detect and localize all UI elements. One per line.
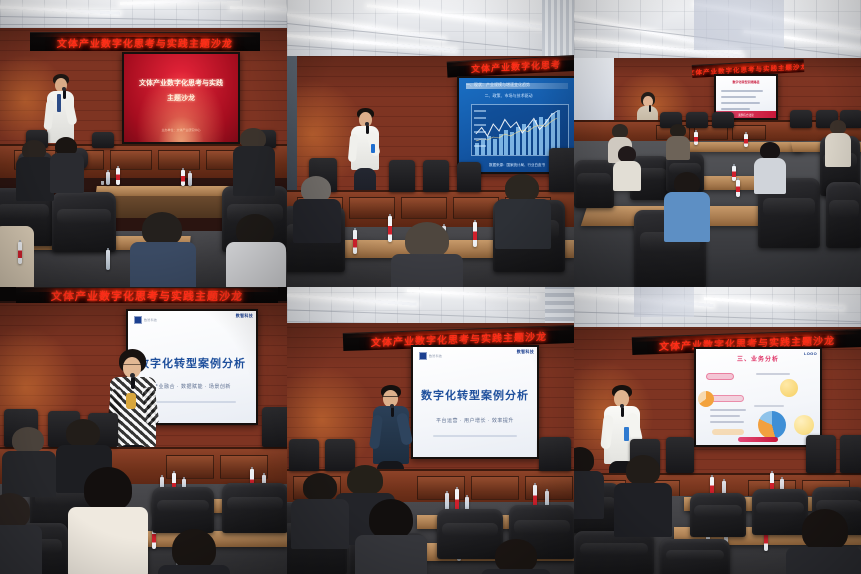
brand-mark-icon <box>419 352 427 360</box>
diagram-label <box>706 373 734 380</box>
ceiling <box>574 0 861 66</box>
led-banner-1: 文体产业数字化思考与实践主题沙龙 <box>30 32 260 51</box>
presentation-screen-5: 数智科技 数智科技 数字化转型案例分析 平台运营 · 用户增长 · 效率提升 <box>411 345 539 459</box>
brand-name: 数智科技 <box>429 354 442 358</box>
slide-corner-brand: 数智科技 <box>517 349 534 355</box>
water-bottle <box>188 173 192 186</box>
photo-collage: 文体产业数字化思考与实践主题沙龙 文体产业数字化思考与实践 主题沙龙 主办单位：… <box>0 0 861 574</box>
diagram-label <box>712 429 744 435</box>
water-bottle <box>353 230 357 254</box>
water-bottle <box>181 170 185 186</box>
microphone <box>63 90 66 99</box>
slide-title: 数字化转型实践路径 <box>716 80 776 84</box>
audience-chair <box>690 493 746 537</box>
slide-title: 数字化转型案例分析 <box>413 387 537 403</box>
audience-chair <box>826 182 861 248</box>
banner-text: 文体产业数字化思考与实践主题沙龙 <box>56 35 233 50</box>
water-bottle <box>732 166 736 181</box>
diagram-donut-orange <box>698 391 714 407</box>
microphone <box>366 125 369 134</box>
audience-chair <box>152 487 214 533</box>
slide-corner-brand: 数智科技 <box>236 313 253 319</box>
ceiling <box>574 287 861 331</box>
water-bottle <box>106 250 110 270</box>
water-bottle <box>116 168 120 185</box>
audience-chair <box>574 160 614 208</box>
diagram-pie-blue <box>758 411 786 439</box>
water-bottle <box>106 172 110 185</box>
microphone <box>391 407 394 417</box>
slide-subtitle: 主题沙龙 <box>124 93 238 103</box>
collage-photo-2: 文体产业数字化思考 一、现状：产业规模与增速变化趋势 二、政策、市场与技术驱动 <box>287 0 574 287</box>
water-bottle <box>473 222 477 247</box>
brand-mark-icon <box>134 316 142 324</box>
audience-chair <box>660 539 730 574</box>
water-bottle <box>736 180 740 197</box>
audience-chair <box>437 509 503 559</box>
slide-title: 三、业务分析 <box>696 354 820 363</box>
slide-headline: 一、现状：产业规模与增速变化趋势 <box>466 82 568 88</box>
diagram-circle-yellow <box>780 379 798 397</box>
water-bottle <box>744 134 748 147</box>
collage-photo-6: 文体产业数字化思考与实践主题沙龙 LOGO 三、业务分析 <box>574 287 861 574</box>
water-bottle <box>18 242 22 264</box>
audience-chair <box>52 192 116 252</box>
slide-title: 文体产业数字化思考与实践 <box>124 78 238 88</box>
slide-subhead: 二、政策、市场与技术驱动 <box>485 93 569 99</box>
conference-table-1 <box>673 142 805 152</box>
water-bottle <box>694 132 698 145</box>
collage-photo-5: 文体产业数字化思考与实践主题沙龙 数智科技 数智科技 数字化转型案例分析 平台运… <box>287 287 574 574</box>
slide-brand-logo: 数智科技 <box>134 316 157 324</box>
led-banner-4: 文体产业数字化思考与实践主题沙龙 <box>16 287 278 304</box>
audience-chair <box>574 531 654 574</box>
water-bottle <box>388 216 392 242</box>
microphone <box>649 105 651 112</box>
collage-photo-3: 文体产业数字化思考与实践主题沙龙 数字化转型实践路径 案例与方法论 <box>574 0 861 287</box>
presentation-screen-6: LOGO 三、业务分析 <box>694 347 822 447</box>
microphone <box>131 377 135 389</box>
audience-chair <box>222 483 287 533</box>
presentation-screen-1: 文体产业数字化思考与实践 主题沙龙 主办单位：文体产业研究中心 <box>122 52 240 144</box>
slide-brand-logo: 数智科技 <box>419 352 442 360</box>
diagram-label <box>710 395 744 402</box>
brand-name: 数智科技 <box>144 318 157 322</box>
audience-chair <box>752 489 808 535</box>
collage-photo-4: 文体产业数字化思考与实践主题沙龙 数智科技 数智科技 数字化转型案例分析 产业融… <box>0 287 287 574</box>
diagram-circle-yellow-2 <box>794 415 814 435</box>
ceiling <box>0 0 287 28</box>
slide-subtitle: 平台运营 · 用户增长 · 效率提升 <box>413 417 537 424</box>
collage-photo-1: 文体产业数字化思考与实践主题沙龙 文体产业数字化思考与实践 主题沙龙 主办单位：… <box>0 0 287 287</box>
microphone <box>621 407 624 417</box>
banner-text: 文体产业数字化思考与实践主题沙龙 <box>50 288 243 304</box>
